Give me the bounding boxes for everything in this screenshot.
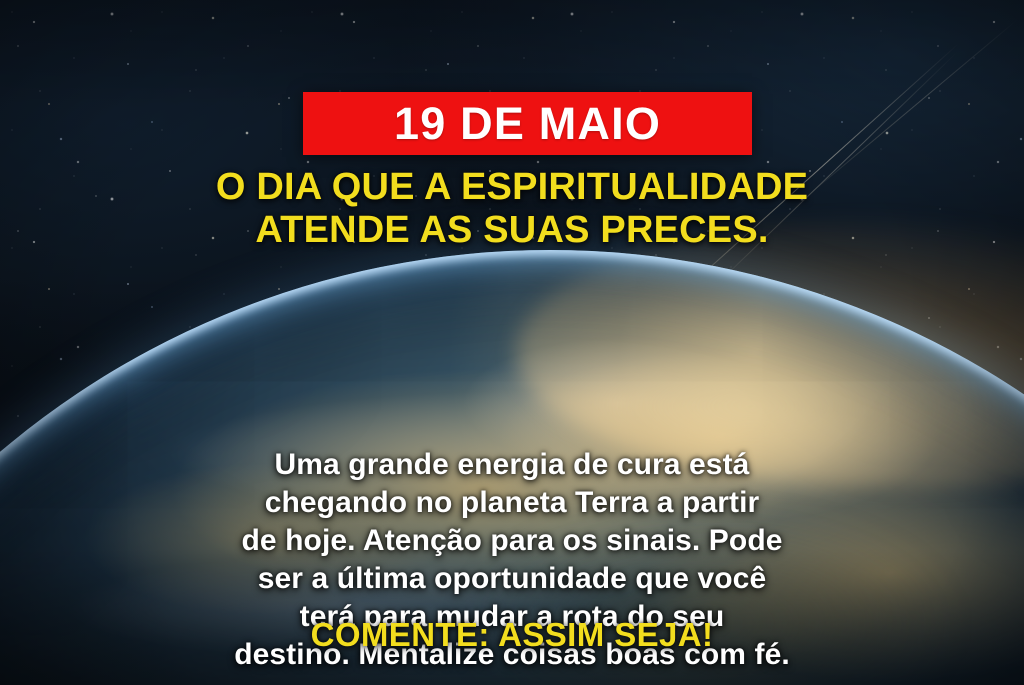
date-banner: 19 DE MAIO [303,92,752,155]
body-copy-line-2: chegando no planeta Terra a partir [52,484,972,522]
headline-line-1: O DIA QUE A ESPIRITUALIDADE [40,166,984,209]
body-copy-line-4: ser a última oportunidade que você [52,560,972,598]
date-banner-label: 19 DE MAIO [394,101,661,146]
poster-canvas: 19 DE MAIO O DIA QUE A ESPIRITUALIDADE A… [0,0,1024,685]
call-to-action-label: COMENTE: ASSIM SEJA! [0,616,1024,654]
headline-line-2: ATENDE AS SUAS PRECES. [40,209,984,252]
poster-content: 19 DE MAIO O DIA QUE A ESPIRITUALIDADE A… [0,0,1024,685]
body-copy-line-3: de hoje. Atenção para os sinais. Pode [52,522,972,560]
headline: O DIA QUE A ESPIRITUALIDADE ATENDE AS SU… [0,166,1024,251]
body-copy-line-1: Uma grande energia de cura está [52,446,972,484]
